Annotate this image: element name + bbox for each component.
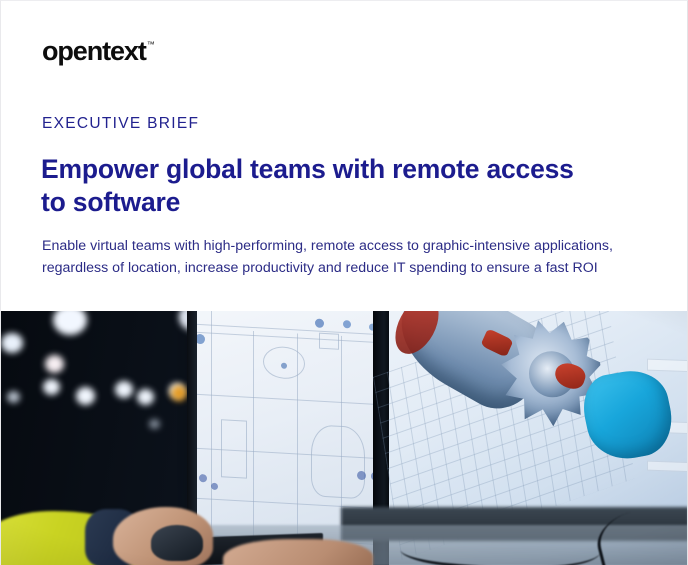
header-content-area: opentext ™ EXECUTIVE BRIEF Empower globa… bbox=[1, 1, 688, 311]
bokeh-light bbox=[43, 379, 60, 395]
bokeh-light bbox=[1, 333, 23, 353]
computer-mouse bbox=[151, 525, 203, 561]
bokeh-light bbox=[149, 419, 160, 429]
bokeh-light bbox=[115, 381, 133, 398]
executive-brief-page: opentext ™ EXECUTIVE BRIEF Empower globa… bbox=[0, 0, 688, 565]
opentext-logo-wordmark: opentext bbox=[42, 38, 146, 65]
page-subtitle: Enable virtual teams with high-performin… bbox=[42, 236, 672, 279]
bokeh-light bbox=[45, 355, 64, 373]
cad-side-panel bbox=[647, 461, 688, 473]
page-title: Empower global teams with remote access … bbox=[41, 153, 601, 219]
bokeh-light bbox=[137, 389, 154, 405]
trademark-icon: ™ bbox=[147, 40, 155, 50]
bokeh-light bbox=[7, 391, 20, 403]
document-type-label: EXECUTIVE BRIEF bbox=[42, 115, 199, 133]
bokeh-light-amber bbox=[171, 385, 187, 401]
opentext-logo[interactable]: opentext ™ bbox=[42, 38, 155, 65]
bokeh-light bbox=[76, 387, 95, 405]
cad-side-panel bbox=[647, 359, 688, 373]
hand-on-keyboard bbox=[223, 539, 373, 565]
hero-image bbox=[1, 311, 688, 565]
